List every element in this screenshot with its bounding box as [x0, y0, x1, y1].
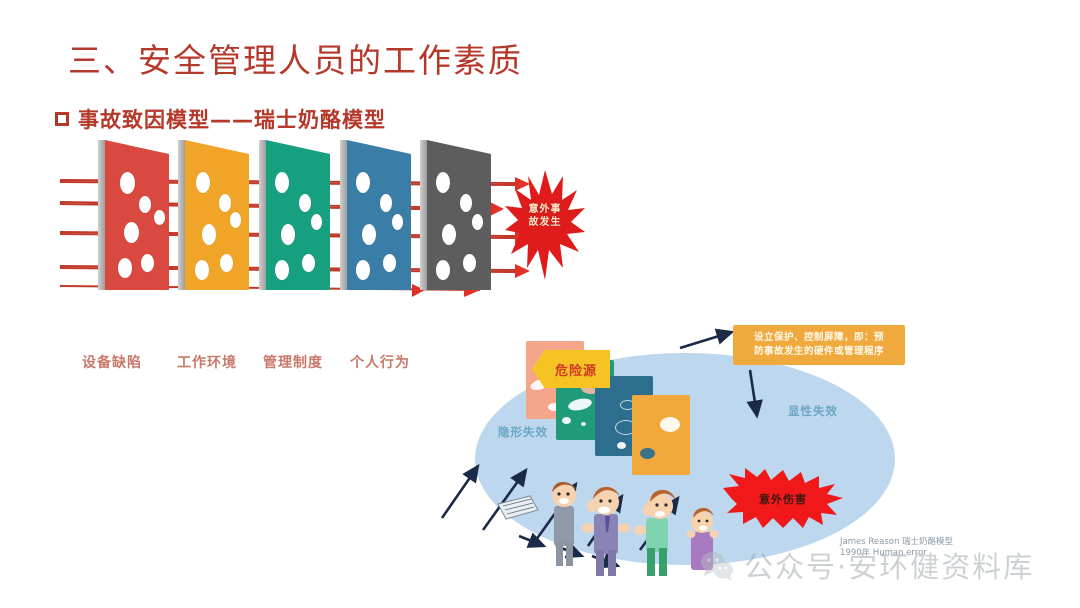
- wechat-bubble-icon: [700, 548, 734, 582]
- slice-edge: [340, 140, 347, 290]
- cheese-hole: [230, 212, 241, 228]
- cheese-hole: [472, 214, 483, 230]
- cheese-hole: [356, 172, 370, 193]
- card-hole: [660, 417, 680, 432]
- cheese-hole: [118, 258, 132, 278]
- cheese-label-2: 工作环境: [177, 352, 237, 372]
- cheese-hole: [124, 222, 139, 243]
- slice-edge: [420, 140, 427, 290]
- document-icon: [498, 496, 538, 519]
- card-hole: [617, 442, 626, 449]
- cheese-hole: [442, 224, 456, 245]
- cheese-label-1: 设备缺陷: [82, 352, 142, 372]
- cheese-hole: [154, 210, 165, 225]
- cheese-hole: [380, 194, 392, 212]
- cheese-hole: [383, 254, 396, 272]
- slice-edge: [259, 140, 266, 290]
- cheese-hole: [195, 260, 209, 280]
- section-subtitle: 事故致因模型——瑞士奶酪模型: [78, 104, 386, 134]
- active-failure-label: 显性失效: [788, 403, 838, 419]
- watermark-text: 公众号·安环健资料库: [744, 544, 1034, 586]
- cheese-hole: [302, 254, 315, 272]
- cheese-hole: [202, 224, 216, 245]
- cheese-label-3: 管理制度: [263, 352, 323, 372]
- cheese-hole: [219, 194, 231, 212]
- cheese-hole: [220, 254, 233, 272]
- watermark: 公众号·安环健资料库: [700, 544, 1034, 586]
- cheese-hole: [356, 260, 370, 280]
- hazard-source-label: 危险源: [545, 360, 597, 379]
- hazard-source-tag: 危险源: [532, 350, 610, 388]
- cheese-hole: [141, 254, 154, 272]
- defense-barrier-callout: 设立保护、控制屏障，即：预 防事故发生的硬件或管理程序: [733, 325, 905, 365]
- cheese-hole: [362, 224, 376, 245]
- card-hole: [562, 417, 571, 424]
- card-hole: [581, 422, 586, 426]
- cartoon-person-3: [634, 490, 676, 576]
- accident-burst-text: 意外事 故发生: [505, 203, 585, 229]
- cheese-hole: [392, 214, 403, 230]
- section-subtitle-row: 事故致因模型——瑞士奶酪模型: [55, 104, 386, 134]
- cheese-hole: [463, 254, 476, 272]
- accident-burst-top: 意外事 故发生: [505, 170, 585, 280]
- page-title: 三、安全管理人员的工作素质: [68, 34, 523, 82]
- card-hole: [567, 397, 593, 413]
- cheese-hole: [299, 194, 311, 212]
- card-hole: [640, 448, 655, 459]
- cheese-hole: [281, 224, 295, 245]
- callout-line-1: 设立保护、控制屏障，即：预: [754, 331, 884, 345]
- latent-failure-label: 隐形失效: [498, 424, 548, 440]
- cheese-label-4: 个人行为: [350, 352, 410, 372]
- cheese-hole: [460, 194, 472, 212]
- cheese-hole: [311, 214, 322, 230]
- cheese-hole: [275, 260, 289, 280]
- square-bullet-icon: [55, 112, 69, 126]
- slice-edge: [98, 140, 105, 290]
- cheese-hole: [436, 172, 450, 193]
- cheese-hole: [120, 172, 135, 194]
- cartoon-person-1: [552, 482, 577, 566]
- cheese-hole: [436, 260, 450, 280]
- cheese-hole: [139, 196, 151, 213]
- defense-card-4: [632, 395, 690, 475]
- cheese-hole: [275, 172, 289, 193]
- cartoon-person-2: [582, 487, 630, 576]
- callout-line-2: 防事故发生的硬件或管理程序: [754, 345, 884, 359]
- slide-canvas: 三、安全管理人员的工作素质 事故致因模型——瑞士奶酪模型: [0, 0, 1080, 608]
- cheese-hole: [196, 172, 210, 193]
- slice-edge: [178, 140, 185, 290]
